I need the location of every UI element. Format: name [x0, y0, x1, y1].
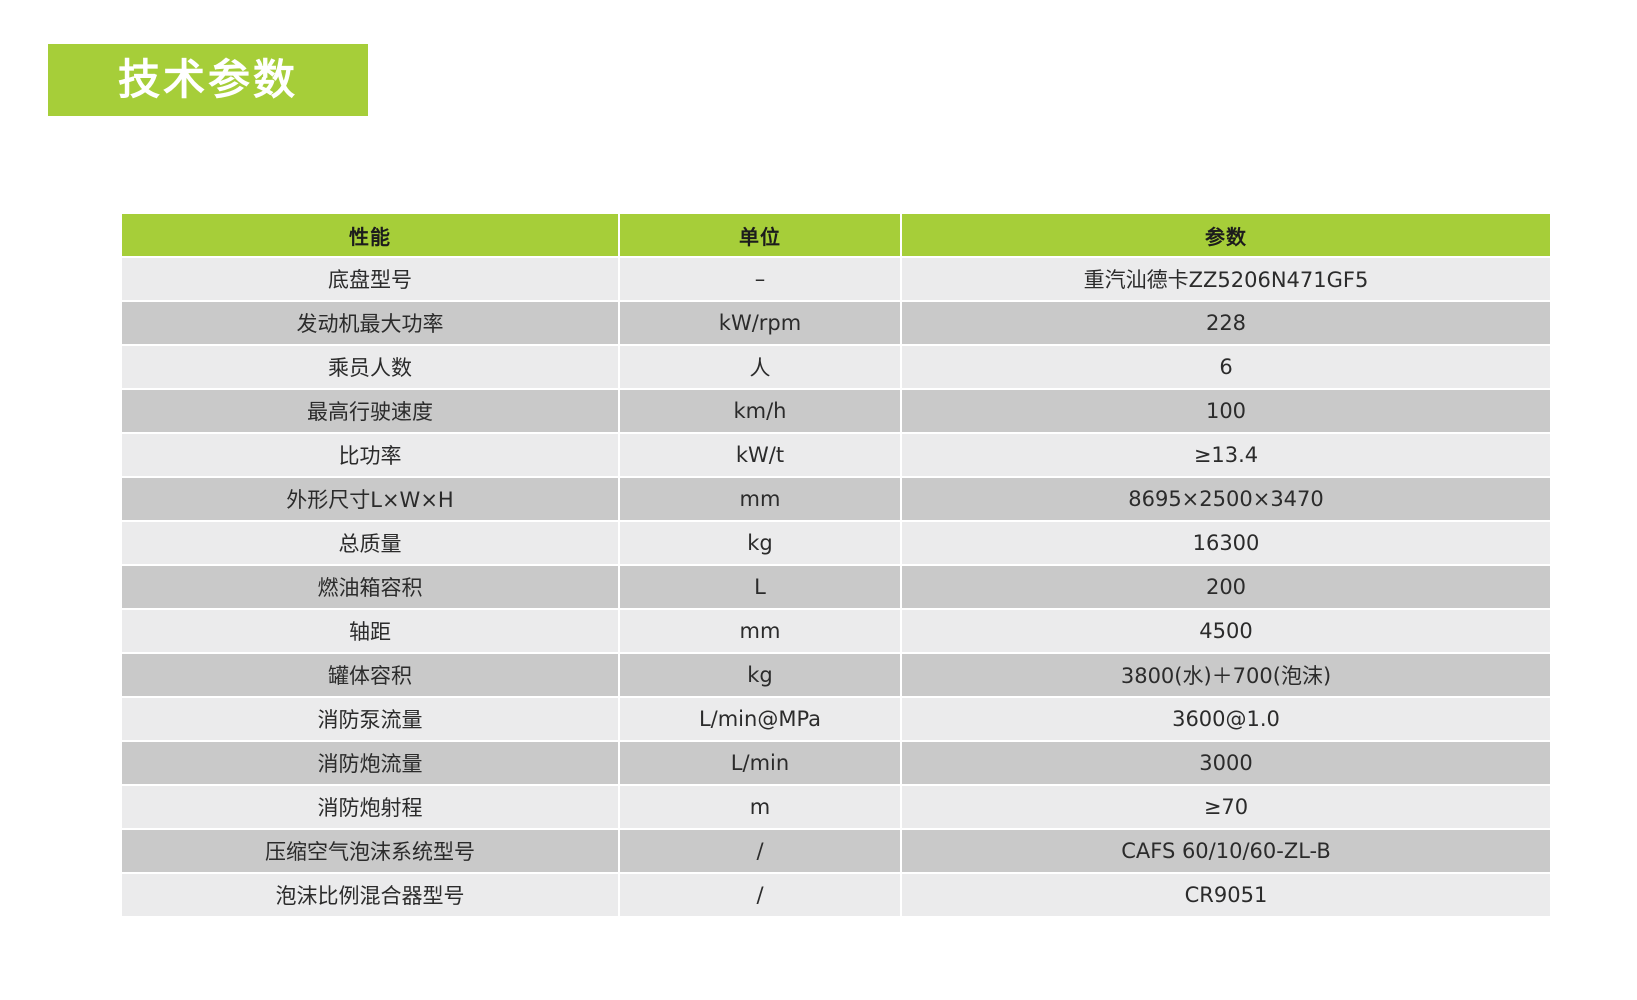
table-body: 底盘型号–重汽汕德卡ZZ5206N471GF5发动机最大功率kW/rpm228乘… — [122, 258, 1550, 916]
table-row: 发动机最大功率kW/rpm228 — [122, 302, 1550, 344]
column-header-performance: 性能 — [122, 214, 620, 256]
cell-unit: L/min@MPa — [620, 698, 902, 740]
cell-unit: 人 — [620, 346, 902, 388]
cell-unit: L/min — [620, 742, 902, 784]
table-row: 最高行驶速度km/h100 — [122, 390, 1550, 432]
cell-parameter: 16300 — [902, 522, 1550, 564]
table-row: 轴距mm4500 — [122, 610, 1550, 652]
table-header-row: 性能 单位 参数 — [122, 214, 1550, 256]
cell-performance: 消防泵流量 — [122, 698, 620, 740]
technical-parameters-table: 性能 单位 参数 底盘型号–重汽汕德卡ZZ5206N471GF5发动机最大功率k… — [122, 212, 1550, 918]
table-row: 总质量kg16300 — [122, 522, 1550, 564]
cell-unit: mm — [620, 478, 902, 520]
cell-parameter: 重汽汕德卡ZZ5206N471GF5 — [902, 258, 1550, 300]
table-row: 罐体容积kg3800(水)＋700(泡沫) — [122, 654, 1550, 696]
cell-unit: kW/t — [620, 434, 902, 476]
table-row: 底盘型号–重汽汕德卡ZZ5206N471GF5 — [122, 258, 1550, 300]
column-header-parameter: 参数 — [902, 214, 1550, 256]
cell-parameter: 8695×2500×3470 — [902, 478, 1550, 520]
cell-unit: – — [620, 258, 902, 300]
cell-parameter: 4500 — [902, 610, 1550, 652]
cell-performance: 外形尺寸L×W×H — [122, 478, 620, 520]
cell-parameter: 228 — [902, 302, 1550, 344]
table-row: 燃油箱容积L200 — [122, 566, 1550, 608]
cell-performance: 总质量 — [122, 522, 620, 564]
cell-parameter: ≥70 — [902, 786, 1550, 828]
table-row: 消防炮流量L/min3000 — [122, 742, 1550, 784]
cell-parameter: CR9051 — [902, 874, 1550, 916]
cell-performance: 泡沫比例混合器型号 — [122, 874, 620, 916]
spec-sheet-page: 技术参数 性能 单位 参数 底盘型号–重汽汕德卡ZZ5206N471GF5发动机… — [0, 0, 1637, 1000]
table-row: 消防炮射程m≥70 — [122, 786, 1550, 828]
cell-parameter: 3000 — [902, 742, 1550, 784]
cell-unit: kg — [620, 522, 902, 564]
cell-unit: m — [620, 786, 902, 828]
cell-unit: kW/rpm — [620, 302, 902, 344]
table-row: 压缩空气泡沫系统型号/CAFS 60/10/60-ZL-B — [122, 830, 1550, 872]
column-header-unit: 单位 — [620, 214, 902, 256]
table-row: 外形尺寸L×W×Hmm8695×2500×3470 — [122, 478, 1550, 520]
page-title-banner: 技术参数 — [48, 44, 368, 116]
cell-parameter: CAFS 60/10/60-ZL-B — [902, 830, 1550, 872]
cell-parameter: ≥13.4 — [902, 434, 1550, 476]
cell-performance: 压缩空气泡沫系统型号 — [122, 830, 620, 872]
page-title: 技术参数 — [118, 59, 298, 101]
table-row: 泡沫比例混合器型号/CR9051 — [122, 874, 1550, 916]
table-row: 消防泵流量L/min@MPa3600@1.0 — [122, 698, 1550, 740]
cell-performance: 乘员人数 — [122, 346, 620, 388]
table-row: 比功率kW/t≥13.4 — [122, 434, 1550, 476]
cell-unit: / — [620, 874, 902, 916]
cell-unit: mm — [620, 610, 902, 652]
cell-performance: 消防炮流量 — [122, 742, 620, 784]
cell-performance: 轴距 — [122, 610, 620, 652]
cell-parameter: 100 — [902, 390, 1550, 432]
cell-performance: 发动机最大功率 — [122, 302, 620, 344]
cell-performance: 比功率 — [122, 434, 620, 476]
cell-performance: 燃油箱容积 — [122, 566, 620, 608]
cell-performance: 消防炮射程 — [122, 786, 620, 828]
cell-unit: km/h — [620, 390, 902, 432]
cell-parameter: 3600@1.0 — [902, 698, 1550, 740]
cell-performance: 最高行驶速度 — [122, 390, 620, 432]
cell-performance: 罐体容积 — [122, 654, 620, 696]
table-row: 乘员人数人6 — [122, 346, 1550, 388]
cell-parameter: 200 — [902, 566, 1550, 608]
cell-parameter: 3800(水)＋700(泡沫) — [902, 654, 1550, 696]
cell-unit: L — [620, 566, 902, 608]
cell-unit: kg — [620, 654, 902, 696]
cell-parameter: 6 — [902, 346, 1550, 388]
cell-unit: / — [620, 830, 902, 872]
cell-performance: 底盘型号 — [122, 258, 620, 300]
table-header: 性能 单位 参数 — [122, 214, 1550, 256]
